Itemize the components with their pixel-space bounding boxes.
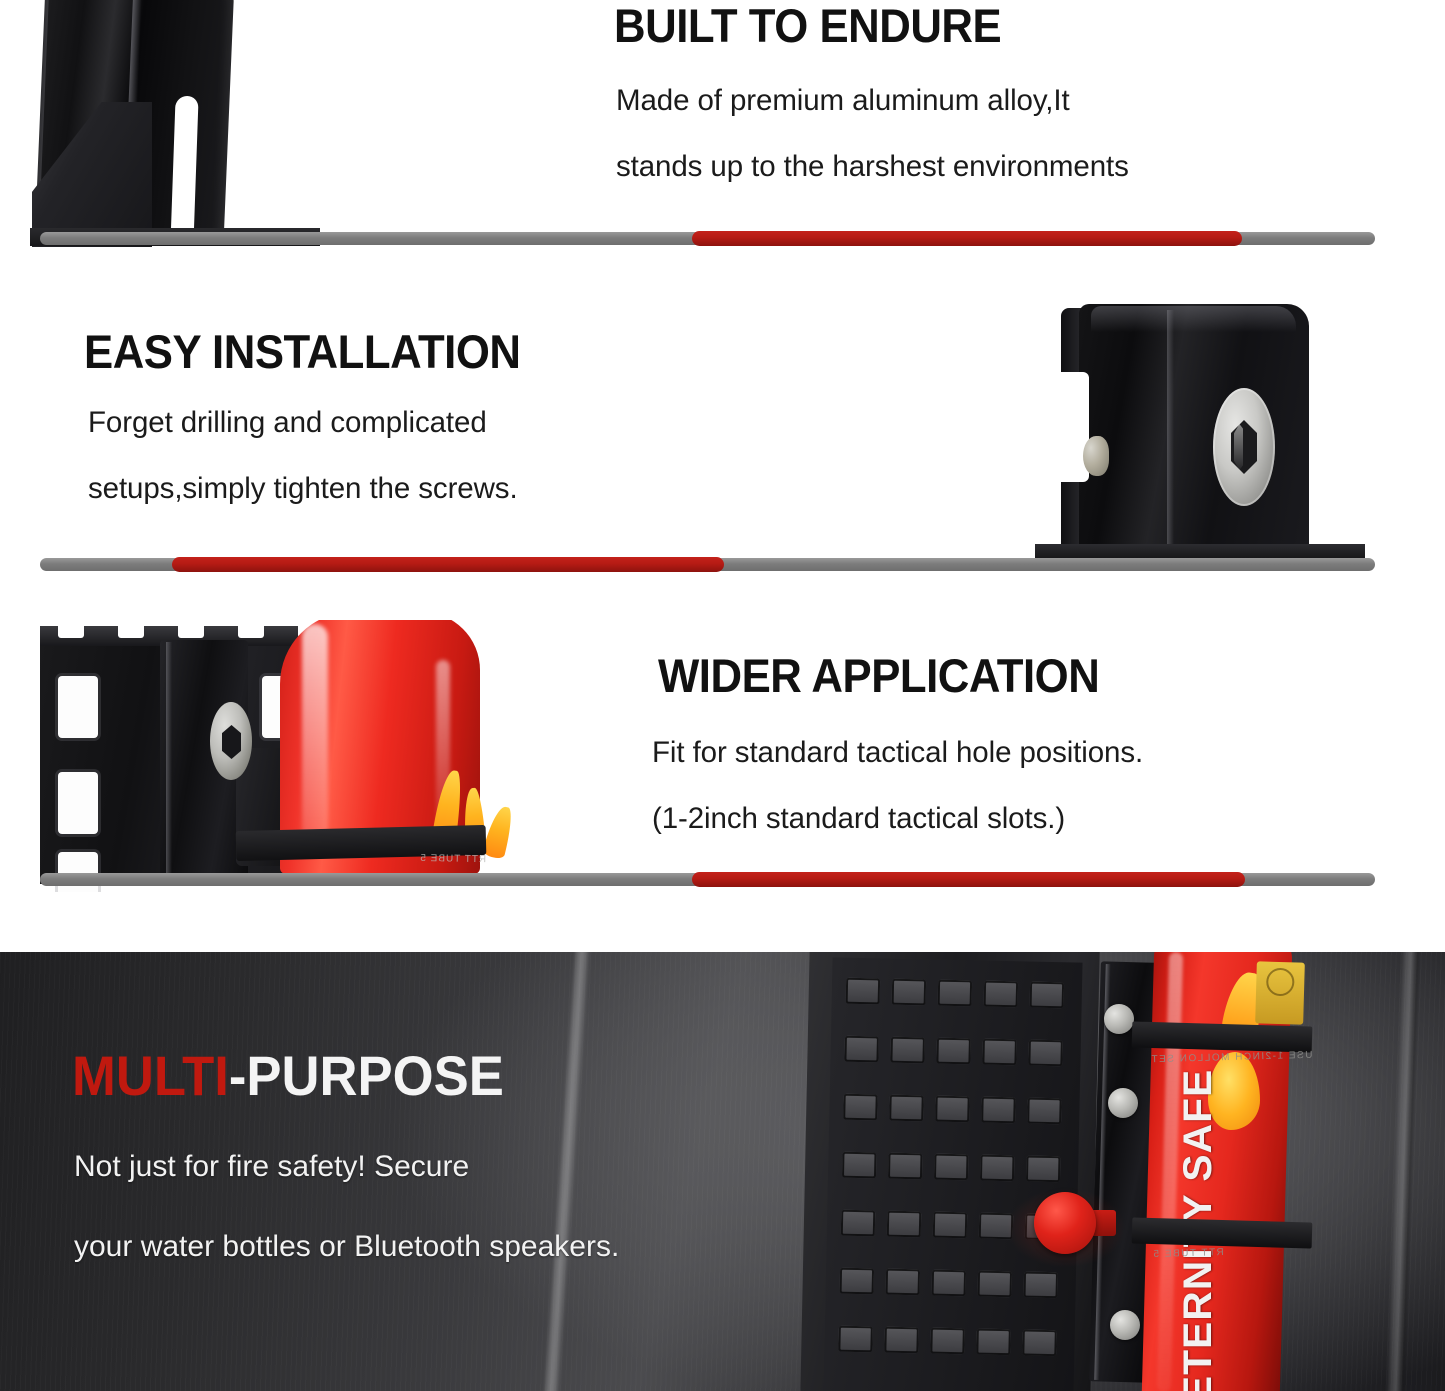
- feature-wider-application: RTT TUBE 5 WIDER APPLICATION Fit for sta…: [0, 620, 1445, 892]
- extinguisher-certification-badge: [1255, 961, 1305, 1024]
- mount-screw-middle: [1108, 1088, 1138, 1118]
- hero-title-red: MULTI: [72, 1044, 229, 1107]
- divider-1-red-bar: [692, 231, 1242, 246]
- feature-2-line-1: Forget drilling and complicated: [88, 408, 487, 438]
- feature-built-to-endure: BUILT TO ENDURE Made of premium aluminum…: [0, 0, 1445, 248]
- feature-3-headline: WIDER APPLICATION: [658, 652, 1099, 699]
- hero-title-white: -PURPOSE: [229, 1044, 504, 1107]
- bracket-top-highlight: [1091, 306, 1296, 332]
- image-bracket-with-hex-socket-screw-closeup: [1035, 296, 1375, 574]
- feature-2-headline: EASY INSTALLATION: [84, 328, 521, 375]
- extinguisher-strap-lower: [1132, 1217, 1313, 1248]
- feature-3-line-2: (1-2inch standard tactical slots.): [652, 804, 1065, 834]
- extinguisher-strap-upper: [1132, 1021, 1313, 1052]
- feature-3-line-1: Fit for standard tactical hole positions…: [652, 738, 1143, 768]
- image-molle-panel-with-red-fire-extinguisher: RTT TUBE 5: [40, 620, 585, 892]
- divider-2: [0, 558, 1445, 571]
- infographic-page: BUILT TO ENDURE Made of premium aluminum…: [0, 0, 1445, 1391]
- feature-1-line-1: Made of premium aluminum alloy,It: [616, 86, 1070, 116]
- image-black-aluminum-bracket-closeup: [0, 0, 330, 248]
- extinguisher-gloss-left: [302, 624, 328, 844]
- hero-line-1: Not just for fire safety! Secure: [74, 1152, 469, 1182]
- bracket-vertical-rib: [1167, 310, 1174, 552]
- extinguisher-strap-lower-text: RTT TUBE 5: [1152, 1247, 1224, 1260]
- quick-release-knob: [1034, 1192, 1096, 1254]
- feature-1-headline: BUILT TO ENDURE: [614, 2, 1001, 49]
- side-screw: [1083, 436, 1109, 476]
- mount-screw-bottom: [1110, 1310, 1140, 1340]
- divider-1: [0, 232, 1445, 245]
- bracket-base-shadow: [1035, 544, 1365, 558]
- feature-1-line-2: stands up to the harshest environments: [616, 152, 1129, 182]
- flame-graphic-3: [482, 804, 516, 860]
- divider-2-red-bar: [172, 557, 724, 572]
- divider-3-red-bar: [692, 872, 1245, 887]
- feature-easy-installation: EASY INSTALLATION Forget drilling and co…: [0, 296, 1445, 574]
- mount-bracket-highlight: [166, 642, 172, 882]
- hero-line-2: your water bottles or Bluetooth speakers…: [74, 1232, 619, 1262]
- bracket-body: [1079, 304, 1309, 554]
- molle-grid: [823, 957, 1082, 1391]
- hero-title: MULTI-PURPOSE: [72, 1048, 504, 1104]
- mount-screw-top: [1104, 1004, 1134, 1034]
- feature-2-line-2: setups,simply tighten the screws.: [88, 474, 518, 504]
- divider-3: [0, 873, 1445, 886]
